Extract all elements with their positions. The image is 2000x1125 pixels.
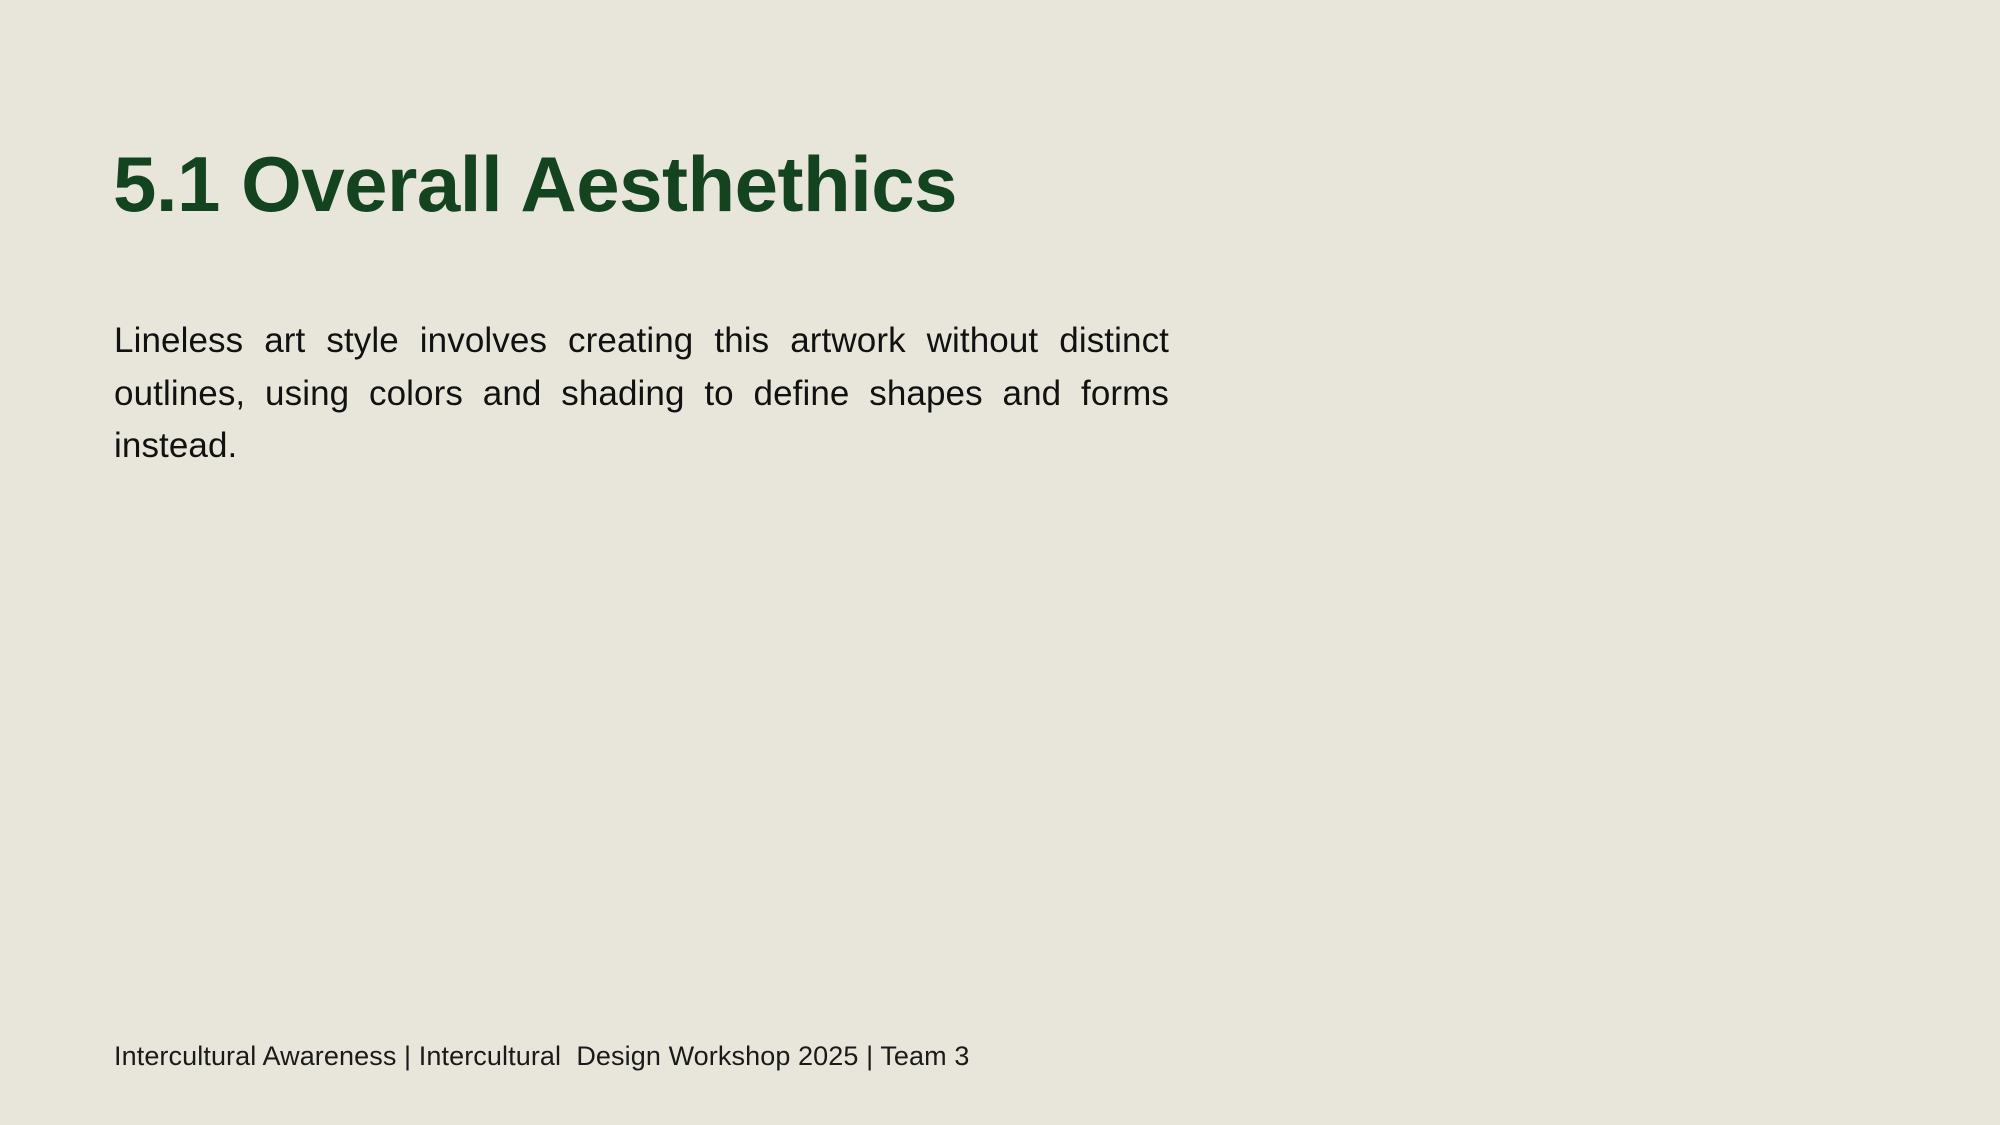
slide-canvas: 5.1 Overall Aesthethics Lineless art sty… — [0, 0, 2000, 1125]
slide-footer: Intercultural Awareness | Intercultural … — [114, 1040, 969, 1072]
body-paragraph: Lineless art style involves creating thi… — [114, 315, 1169, 525]
page-title: 5.1 Overall Aesthethics — [113, 144, 1213, 226]
body-text-block: Lineless art style involves creating thi… — [114, 315, 1169, 525]
